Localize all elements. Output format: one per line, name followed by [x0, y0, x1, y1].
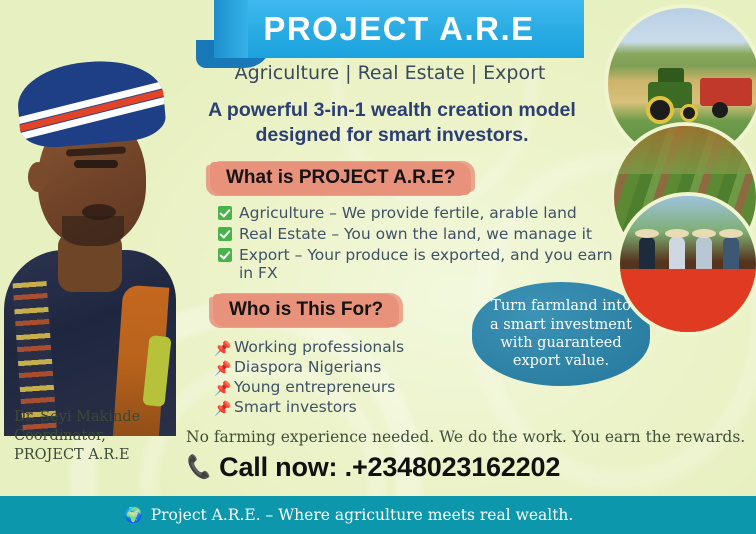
- flyer-canvas: Dr. Seyi Makinde Coordinator, PROJECT A.…: [0, 0, 756, 534]
- coordinator-role: Coordinator,: [14, 427, 140, 446]
- check-icon: [218, 206, 232, 220]
- check-icon: [218, 248, 232, 262]
- sun-hat-icon: [692, 229, 716, 238]
- reassurance-text: No farming experience needed. We do the …: [186, 428, 756, 446]
- footer-bar: 🌍 Project A.R.E. – Where agriculture mee…: [0, 496, 756, 534]
- list-item-label: Diaspora Nigerians: [234, 358, 381, 376]
- portrait-traditional-cap: [15, 56, 168, 150]
- tractor-trailer: [700, 78, 752, 106]
- pushpin-icon: 📌: [214, 381, 228, 397]
- portrait-ear: [28, 162, 48, 192]
- coordinator-org: PROJECT A.R.E: [14, 446, 140, 465]
- market-shopper: [639, 237, 655, 271]
- coordinator-portrait-photo: [0, 36, 178, 436]
- globe-icon: 🌍: [124, 506, 143, 524]
- coordinator-name: Dr. Seyi Makinde: [14, 408, 140, 427]
- list-item: 📌 Working professionals: [214, 338, 474, 356]
- produce-market-photo: [620, 196, 756, 332]
- list-item: 📌 Young entrepreneurs: [214, 378, 474, 396]
- trailer-wheel: [712, 102, 728, 118]
- section-heading-what: What is PROJECT A.R.E?: [210, 162, 471, 195]
- headline-text: A powerful 3-in-1 wealth creation model …: [186, 98, 598, 148]
- phone-icon: 📞: [184, 454, 213, 481]
- ribbon-banner: PROJECT A.R.E: [196, 0, 584, 62]
- portrait-caption: Dr. Seyi Makinde Coordinator, PROJECT A.…: [14, 408, 140, 465]
- list-item-label: Working professionals: [234, 338, 404, 356]
- sun-hat-icon: [635, 229, 659, 238]
- page-title: PROJECT A.R.E: [214, 0, 584, 58]
- pushpin-icon: 📌: [214, 341, 228, 357]
- list-item-label: Smart investors: [234, 398, 357, 416]
- list-item: Real Estate – You own the land, we manag…: [218, 225, 618, 243]
- list-item: 📌 Diaspora Nigerians: [214, 358, 474, 376]
- pushpin-icon: 📌: [214, 361, 228, 377]
- section-heading-who: Who is This For?: [213, 294, 399, 327]
- list-item-label: Export – Your produce is exported, and y…: [239, 246, 618, 282]
- list-item: Export – Your produce is exported, and y…: [218, 246, 618, 282]
- market-shopper: [696, 237, 712, 271]
- list-item-label: Agriculture – We provide fertile, arable…: [239, 204, 577, 222]
- portrait-eye: [74, 160, 118, 168]
- list-item: 📌 Smart investors: [214, 398, 474, 416]
- audience-list: 📌 Working professionals 📌 Diaspora Niger…: [214, 338, 474, 418]
- tractor-rear-wheel: [646, 96, 674, 124]
- footer-content: 🌍 Project A.R.E. – Where agriculture mee…: [124, 506, 573, 524]
- market-produce-stall: [620, 269, 756, 332]
- call-to-action[interactable]: 📞 Call now: .+2348023162202: [186, 452, 560, 483]
- market-shopper: [723, 237, 739, 271]
- market-shopper: [669, 237, 685, 271]
- list-item: Agriculture – We provide fertile, arable…: [218, 204, 618, 222]
- benefits-list: Agriculture – We provide fertile, arable…: [218, 204, 618, 285]
- footer-tagline: Project A.R.E. – Where agriculture meets…: [151, 506, 574, 524]
- tractor-front-wheel: [680, 104, 698, 122]
- sun-hat-icon: [719, 229, 743, 238]
- check-icon: [218, 227, 232, 241]
- portrait-beard: [62, 216, 124, 246]
- pushpin-icon: 📌: [214, 401, 228, 417]
- phone-number-label[interactable]: Call now: .+2348023162202: [219, 452, 560, 483]
- list-item-label: Real Estate – You own the land, we manag…: [239, 225, 592, 243]
- list-item-label: Young entrepreneurs: [234, 378, 395, 396]
- sun-hat-icon: [665, 229, 689, 238]
